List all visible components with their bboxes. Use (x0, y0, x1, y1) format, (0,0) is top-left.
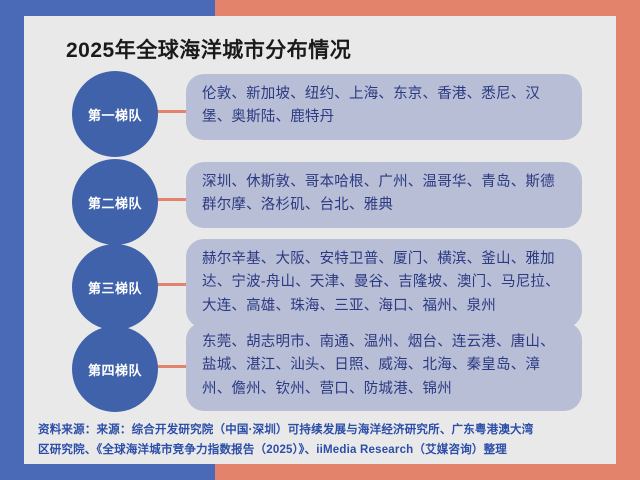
tier-row: 第三梯队 赫尔辛基、大阪、安特卫普、厦门、横滨、釜山、雅加达、宁波-舟山、天津、… (24, 245, 616, 330)
tier-badge-2: 第二梯队 (72, 159, 158, 245)
tier-cities-panel-1: 伦敦、新加坡、纽约、上海、东京、香港、悉尼、汉堡、奥斯陆、鹿特丹 (186, 74, 582, 140)
source-note-line-2: 区研究院、《全球海洋城市竞争力指数报告（2025）》、iiMedia Resea… (38, 440, 604, 460)
tier-badge-3: 第三梯队 (72, 244, 158, 330)
tier-cities-panel-4: 东莞、胡志明市、南通、温州、烟台、连云港、唐山、盐城、湛江、汕头、日照、威海、北… (186, 322, 582, 411)
content-card: 2025年全球海洋城市分布情况 第一梯队 伦敦、新加坡、纽约、上海、东京、香港、… (24, 16, 616, 464)
source-note-line-1: 资料来源：来源：综合开发研究院（中国·深圳）可持续发展与海洋经济研究所、广东粤港… (38, 420, 604, 440)
tier-cities-panel-3: 赫尔辛基、大阪、安特卫普、厦门、横滨、釜山、雅加达、宁波-舟山、天津、曼谷、吉隆… (186, 239, 582, 328)
infographic-poster: 2025年全球海洋城市分布情况 第一梯队 伦敦、新加坡、纽约、上海、东京、香港、… (0, 0, 640, 480)
tier-row: 第二梯队 深圳、休斯敦、哥本哈根、广州、温哥华、青岛、斯德群尔摩、洛杉矶、台北、… (24, 160, 616, 245)
tier-badge-1: 第一梯队 (72, 71, 158, 157)
tier-badge-4: 第四梯队 (72, 326, 158, 412)
tier-list: 第一梯队 伦敦、新加坡、纽约、上海、东京、香港、悉尼、汉堡、奥斯陆、鹿特丹 第二… (24, 78, 616, 415)
source-note: 资料来源：来源：综合开发研究院（中国·深圳）可持续发展与海洋经济研究所、广东粤港… (38, 420, 604, 460)
tier-row: 第四梯队 东莞、胡志明市、南通、温州、烟台、连云港、唐山、盐城、湛江、汕头、日照… (24, 330, 616, 415)
frame-strip-top-orange (215, 0, 640, 16)
frame-strip-right-orange (616, 0, 640, 480)
page-title: 2025年全球海洋城市分布情况 (66, 34, 351, 64)
frame-strip-left-blue (0, 0, 24, 468)
tier-cities-panel-2: 深圳、休斯敦、哥本哈根、广州、温哥华、青岛、斯德群尔摩、洛杉矶、台北、雅典 (186, 162, 582, 228)
frame-strip-bottom-orange (215, 464, 640, 480)
tier-row: 第一梯队 伦敦、新加坡、纽约、上海、东京、香港、悉尼、汉堡、奥斯陆、鹿特丹 (24, 78, 616, 160)
frame-strip-bottom-blue (0, 464, 215, 480)
frame-strip-top-blue (0, 0, 215, 16)
